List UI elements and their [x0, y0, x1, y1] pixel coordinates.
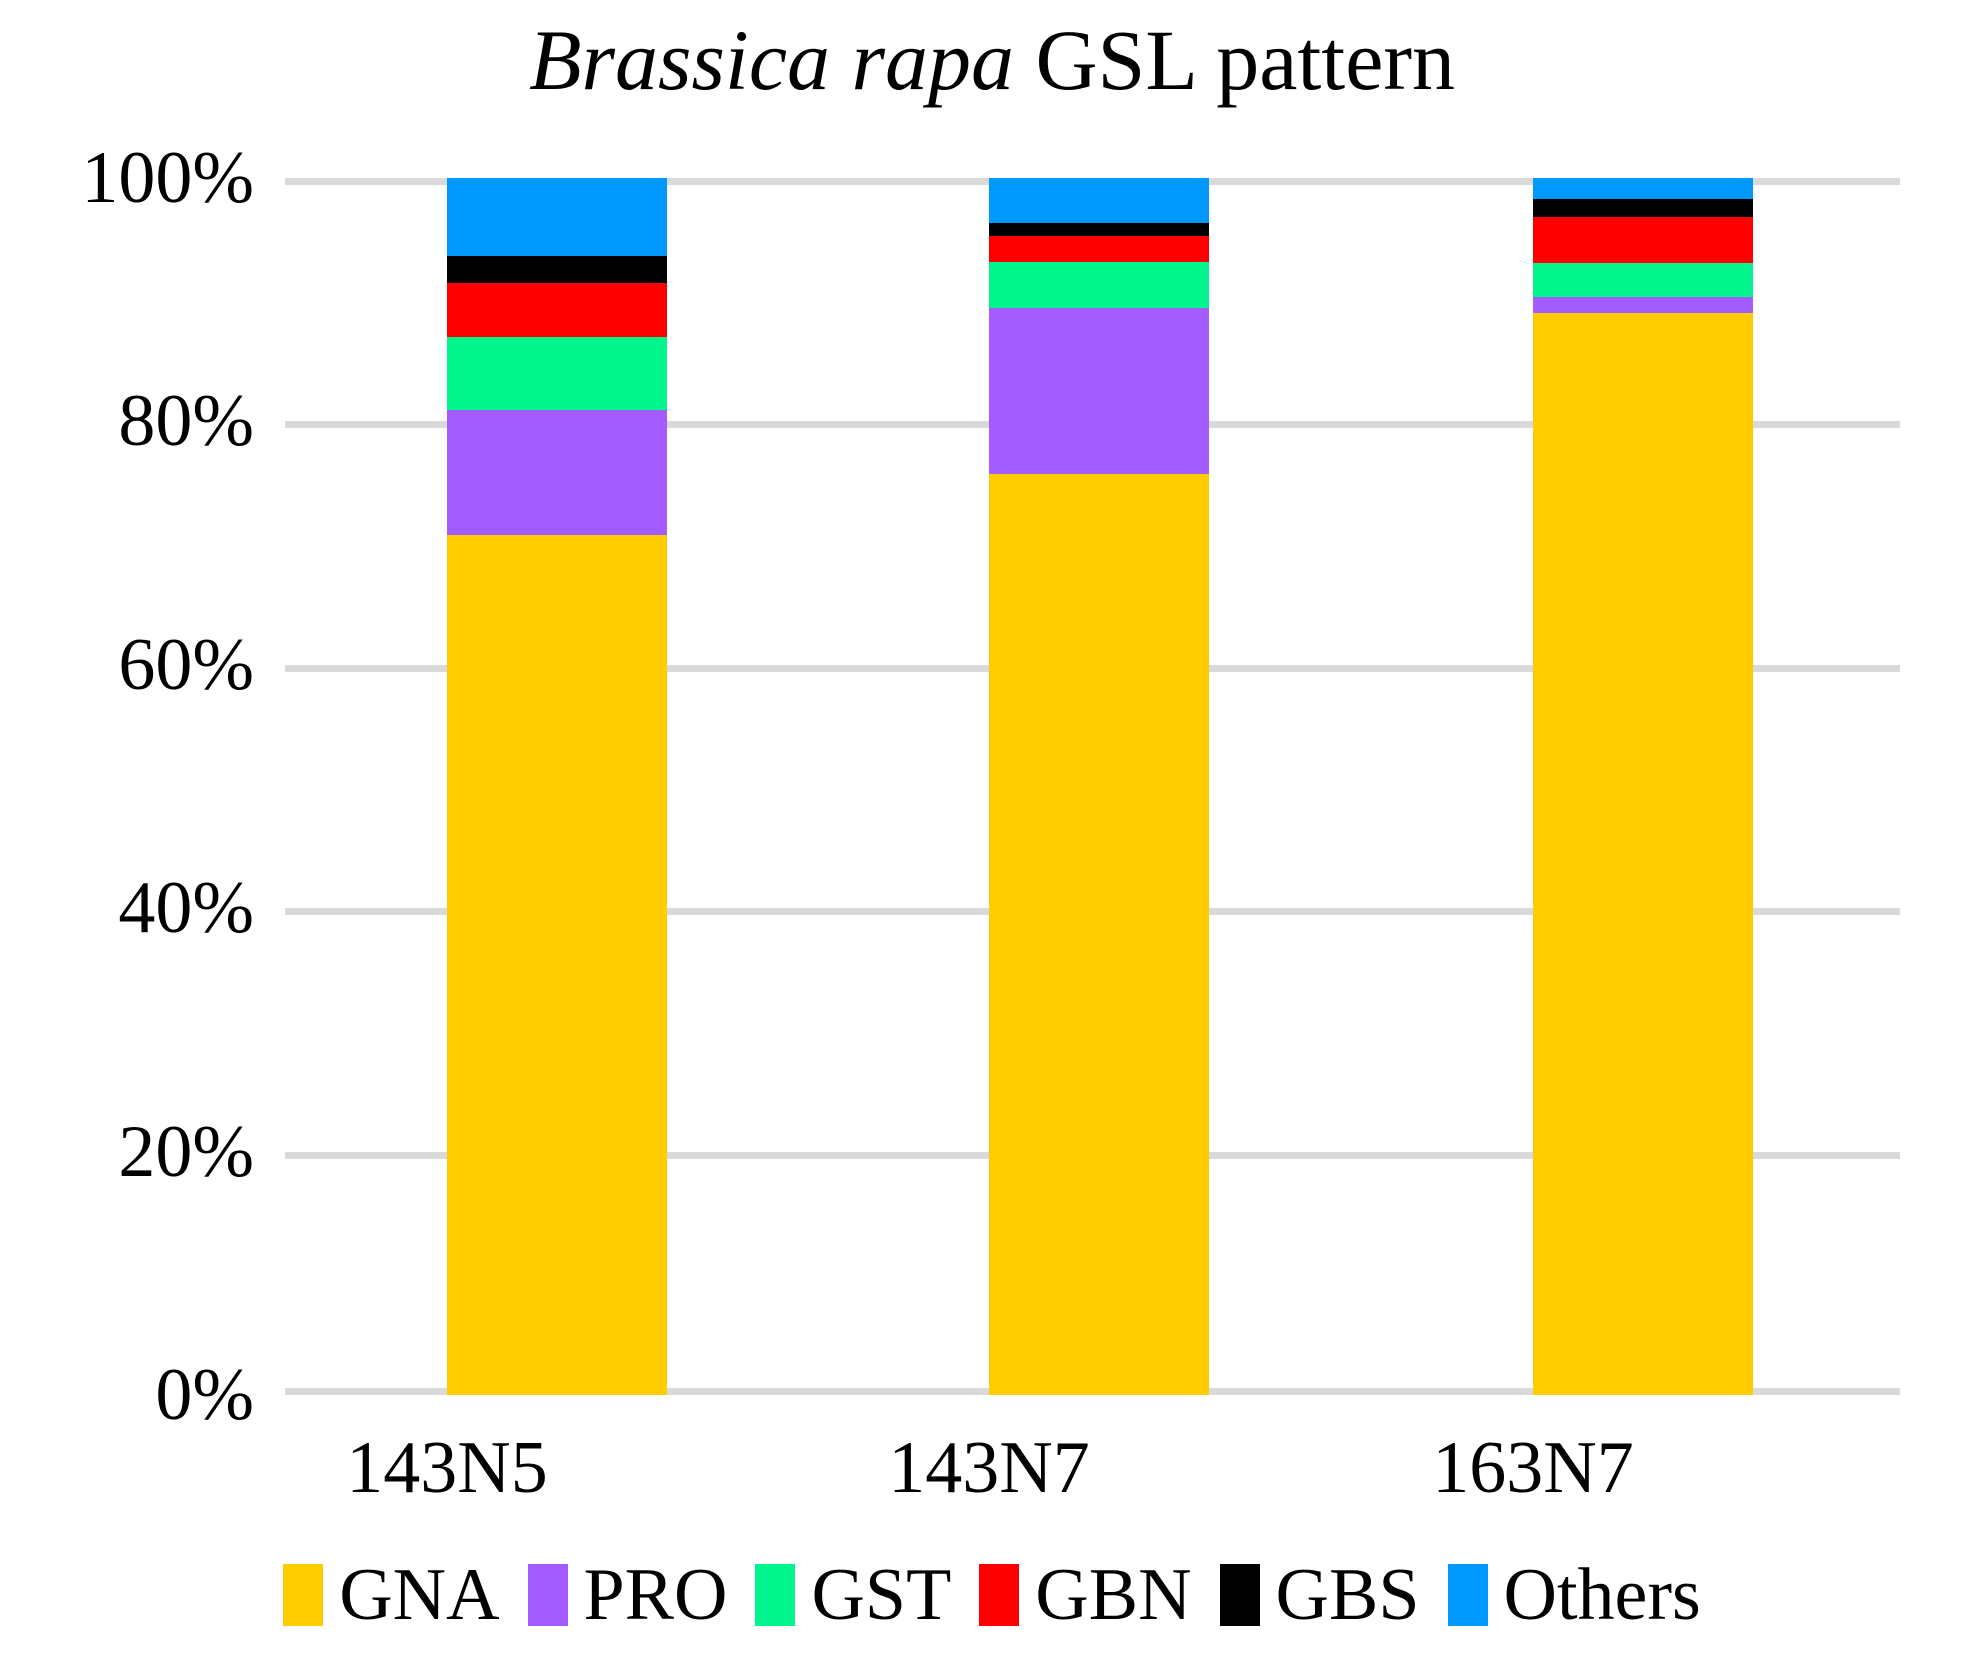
y-axis-tick-20: 20%: [0, 1115, 254, 1189]
bar-segment-others[interactable]: [447, 178, 667, 256]
y-axis-tick-100: 100%: [0, 141, 254, 215]
plot-area: [285, 178, 1900, 1395]
legend-item-gst[interactable]: GST: [755, 1552, 951, 1638]
bar-segment-gbn[interactable]: [1533, 217, 1753, 263]
chart-figure: Brassica rapa GSL pattern 100% 80% 60% 4…: [0, 0, 1984, 1673]
bar-group-163N7[interactable]: [1533, 178, 1753, 1395]
legend-label: GBS: [1276, 1552, 1420, 1638]
bar-segment-gst[interactable]: [989, 262, 1209, 308]
legend-item-gbs[interactable]: GBS: [1220, 1552, 1420, 1638]
legend-label: GST: [811, 1552, 951, 1638]
bar-segment-pro[interactable]: [989, 308, 1209, 474]
bar-segment-pro[interactable]: [1533, 297, 1753, 313]
bar-segment-others[interactable]: [1533, 178, 1753, 199]
y-axis-tick-80: 80%: [0, 384, 254, 458]
chart-title: Brassica rapa GSL pattern: [0, 4, 1984, 116]
x-axis-label-143N5: 143N5: [237, 1425, 657, 1511]
legend-swatch-icon: [283, 1564, 323, 1626]
bar-stack[interactable]: [447, 178, 667, 1395]
legend-label: Others: [1504, 1552, 1701, 1638]
bar-stack[interactable]: [989, 178, 1209, 1395]
bar-stack[interactable]: [1533, 178, 1753, 1395]
legend-swatch-icon: [528, 1564, 568, 1626]
x-axis-label-163N7: 163N7: [1323, 1425, 1743, 1511]
x-axis-label-143N7: 143N7: [779, 1425, 1199, 1511]
bar-segment-others[interactable]: [989, 178, 1209, 223]
legend-swatch-icon: [979, 1564, 1019, 1626]
bar-segment-gbs[interactable]: [989, 223, 1209, 236]
legend-item-gbn[interactable]: GBN: [979, 1552, 1191, 1638]
bar-segment-gbn[interactable]: [447, 283, 667, 338]
bar-segment-gna[interactable]: [989, 474, 1209, 1395]
bar-group-143N7[interactable]: [989, 178, 1209, 1395]
bar-segment-pro[interactable]: [447, 410, 667, 534]
legend-swatch-icon: [1220, 1564, 1260, 1626]
chart-title-italic: Brassica rapa: [529, 12, 1014, 108]
bar-group-143N5[interactable]: [447, 178, 667, 1395]
bar-segment-gbn[interactable]: [989, 236, 1209, 262]
bar-segment-gna[interactable]: [447, 535, 667, 1395]
bar-segment-gna[interactable]: [1533, 313, 1753, 1395]
legend-item-others[interactable]: Others: [1448, 1552, 1701, 1638]
bar-segment-gst[interactable]: [1533, 263, 1753, 297]
y-axis-tick-0: 0%: [0, 1358, 254, 1432]
bar-segment-gbs[interactable]: [447, 256, 667, 283]
bar-segment-gst[interactable]: [447, 337, 667, 410]
legend-item-gna[interactable]: GNA: [283, 1552, 499, 1638]
y-axis-tick-40: 40%: [0, 871, 254, 945]
legend-label: PRO: [584, 1552, 728, 1638]
legend-item-pro[interactable]: PRO: [528, 1552, 728, 1638]
chart-legend: GNAPROGSTGBNGBSOthers: [0, 1552, 1984, 1638]
legend-swatch-icon: [755, 1564, 795, 1626]
legend-swatch-icon: [1448, 1564, 1488, 1626]
legend-label: GNA: [339, 1552, 499, 1638]
bar-segment-gbs[interactable]: [1533, 199, 1753, 217]
chart-title-roman: GSL pattern: [1035, 12, 1455, 108]
y-axis-tick-60: 60%: [0, 628, 254, 702]
legend-label: GBN: [1035, 1552, 1191, 1638]
